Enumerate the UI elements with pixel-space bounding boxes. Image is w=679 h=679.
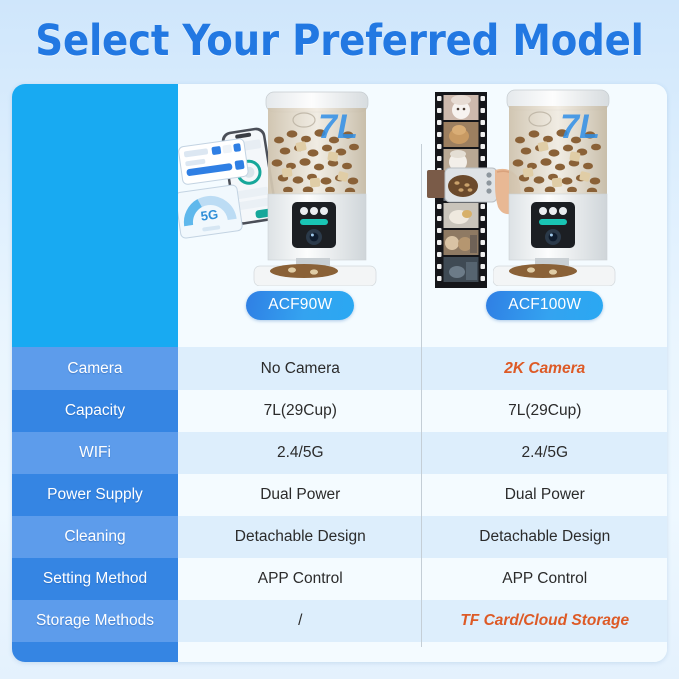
svg-text:5G: 5G xyxy=(200,206,219,223)
title-bar: Select Your Preferred Model xyxy=(0,10,679,72)
row-label-text: Storage Methods xyxy=(36,612,154,630)
cell-power-acf100w: Dual Power xyxy=(423,474,668,516)
row-label-capacity: Capacity xyxy=(12,390,178,432)
row-label-cleaning: Cleaning xyxy=(12,516,178,558)
row-label-text: Setting Method xyxy=(43,570,147,588)
row-label-text: Camera xyxy=(67,360,122,378)
product-column-2: 7L ACF100W xyxy=(423,84,668,347)
label-column-footer xyxy=(12,642,178,662)
column-divider xyxy=(421,144,422,647)
cell-capacity-acf90w: 7L(29Cup) xyxy=(178,390,423,432)
cell-setting-acf100w: APP Control xyxy=(423,558,668,600)
cell-setting-acf90w: APP Control xyxy=(178,558,423,600)
row-label-setting-method: Setting Method xyxy=(12,558,178,600)
cell-wifi-acf90w: 2.4/5G xyxy=(178,432,423,474)
cell-capacity-acf100w: 7L(29Cup) xyxy=(423,390,668,432)
row-label-text: WIFi xyxy=(79,444,111,462)
comparison-table: 5G xyxy=(12,84,667,662)
cell-cleaning-acf100w: Detachable Design xyxy=(423,516,668,558)
comparison-card: 5G xyxy=(12,84,667,662)
row-label-text: Capacity xyxy=(65,402,125,420)
product-column-1: 5G xyxy=(178,84,423,347)
cell-storage-acf100w: TF Card/Cloud Storage xyxy=(423,600,668,642)
row-label-text: Cleaning xyxy=(64,528,125,546)
cell-camera-acf90w: No Camera xyxy=(178,347,423,390)
table-footer-right xyxy=(423,642,668,662)
row-label-text: Power Supply xyxy=(47,486,143,504)
product-badge-1[interactable]: ACF90W xyxy=(246,291,354,320)
capacity-overlay-1: 7L xyxy=(318,108,358,146)
product-badge-2[interactable]: ACF100W xyxy=(486,291,603,320)
capacity-overlay-2: 7L xyxy=(560,108,600,146)
cell-camera-acf100w: 2K Camera xyxy=(423,347,668,390)
row-label-storage-methods: Storage Methods xyxy=(12,600,178,642)
row-label-power-supply: Power Supply xyxy=(12,474,178,516)
pet-feeder-unit-2: 7L xyxy=(493,88,623,286)
table-corner-cell xyxy=(12,84,178,347)
pet-feeder-unit-1: 7L xyxy=(252,90,382,286)
row-label-camera: Camera xyxy=(12,347,178,390)
table-footer-left xyxy=(178,642,423,662)
cell-wifi-acf100w: 2.4/5G xyxy=(423,432,668,474)
product-image-1: 5G xyxy=(178,84,423,289)
cell-cleaning-acf90w: Detachable Design xyxy=(178,516,423,558)
cell-power-acf90w: Dual Power xyxy=(178,474,423,516)
cell-storage-acf90w: / xyxy=(178,600,423,642)
page-title: Select Your Preferred Model xyxy=(35,16,643,66)
row-label-wifi: WIFi xyxy=(12,432,178,474)
product-image-2: 7L xyxy=(423,84,668,289)
